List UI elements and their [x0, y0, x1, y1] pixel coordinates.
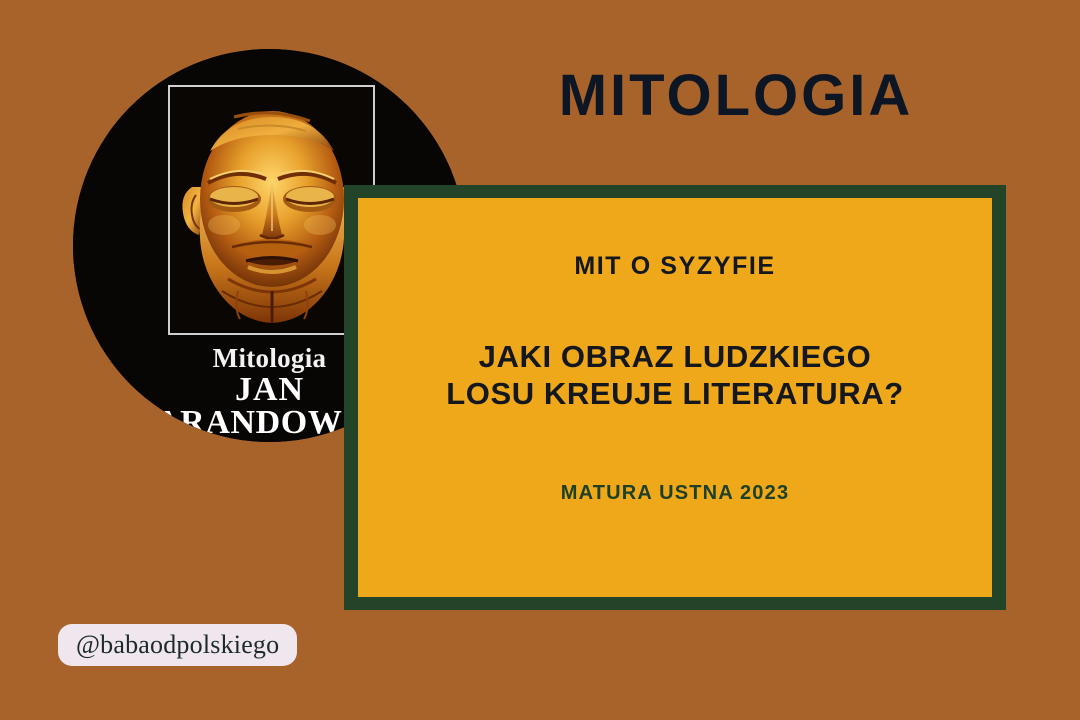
exam-question-line-1: JAKI OBRAZ LUDZKIEGO — [446, 339, 904, 376]
topic-card-inner: MIT O SYZYFIE JAKI OBRAZ LUDZKIEGO LOSU … — [358, 198, 992, 597]
page-title: MITOLOGIA — [466, 62, 1006, 129]
topic-card-content: MIT O SYZYFIE JAKI OBRAZ LUDZKIEGO LOSU … — [358, 198, 992, 597]
account-handle-badge[interactable]: @babaodpolskiego — [58, 624, 297, 666]
exam-session-label: MATURA USTNA 2023 — [561, 482, 790, 505]
poster-canvas: Mitologia JAN PARANDOWSKI MITOLOGIA MIT … — [0, 0, 1080, 720]
account-handle-text: @babaodpolskiego — [76, 630, 279, 660]
exam-question: JAKI OBRAZ LUDZKIEGO LOSU KREUJE LITERAT… — [446, 339, 904, 412]
subject-label: MIT O SYZYFIE — [574, 252, 775, 281]
mask-of-agamemnon-icon — [172, 95, 372, 335]
topic-card: MIT O SYZYFIE JAKI OBRAZ LUDZKIEGO LOSU … — [344, 185, 1006, 610]
exam-question-line-2: LOSU KREUJE LITERATURA? — [446, 376, 904, 413]
